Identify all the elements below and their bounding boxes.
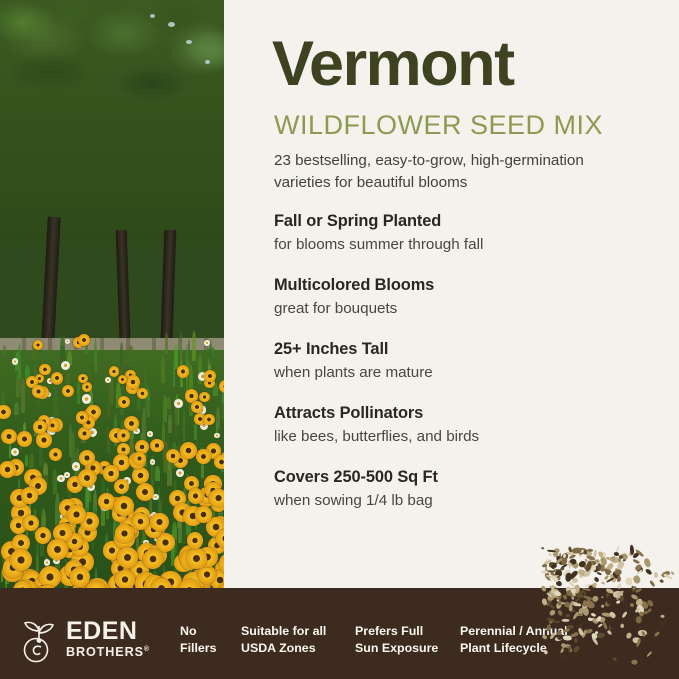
grass-blade [175,403,178,439]
feature-title: Covers 250-500 Sq Ft [274,467,644,488]
white-flower [176,469,183,476]
footer-content: EDEN BROTHERS® No Fillers Suitable for a… [0,600,679,679]
yellow-flower [187,532,204,549]
grass-blade [3,345,6,356]
white-flower [12,358,18,364]
yellow-flower [78,374,88,384]
white-flower [82,394,92,404]
white-flower [64,472,69,477]
yellow-flower [21,487,38,504]
grass-blade [166,397,171,409]
logo-brothers-text: BROTHERS® [66,645,150,659]
grass-blade [52,471,55,485]
badge-line-2: Sun Exposure [355,640,460,657]
white-flower [44,559,50,565]
grass-blade [106,390,109,409]
footer-bar: EDEN BROTHERS® No Fillers Suitable for a… [0,600,679,679]
yellow-flower [114,496,134,516]
grass-blade [161,355,165,383]
grass-blade [162,422,165,443]
grass-blade [168,414,172,434]
white-flower [65,339,70,344]
grass-blade [21,378,25,413]
logo-wordmark: EDEN BROTHERS® [66,620,150,659]
badge-no-fillers: No Fillers [180,623,241,656]
badge-line-2: USDA Zones [241,640,355,657]
product-info-card: /*blooms injected below*/ Vermont WILDFL… [0,0,679,679]
yellow-flower [114,479,129,494]
eden-brothers-logo[interactable]: EDEN BROTHERS® [18,617,151,663]
yellow-flower [78,427,91,440]
grass-blade [192,331,196,361]
yellow-flower [82,382,92,392]
white-flower [150,459,155,464]
yellow-flower [132,513,149,530]
feature-item: Attracts Pollinators like bees, butterfl… [274,403,644,447]
yellow-flower [33,420,47,434]
yellow-flower [1,429,16,444]
grass-blade [189,365,193,392]
badge-line-2: Plant Lifecycle [460,640,580,657]
yellow-flower [199,392,210,403]
grass-blade [107,426,110,453]
white-flower [174,399,183,408]
feature-subtitle: for blooms summer through fall [274,234,644,256]
feature-subtitle: when sowing 1/4 lb bag [274,490,644,512]
yellow-flower [39,364,50,375]
yellow-flower [209,489,224,508]
white-flower [72,462,81,471]
white-flower [57,475,64,482]
white-flower [61,361,70,370]
yellow-flower [98,493,115,510]
yellow-flower [186,548,207,569]
yellow-flower [109,366,120,377]
feature-list: Fall or Spring Planted for blooms summer… [274,211,644,531]
yellow-flower [203,414,215,426]
yellow-flower [195,506,212,523]
footer-badges: No Fillers Suitable for all USDA Zones P… [180,623,580,656]
wildflower-meadow-photo: /*blooms injected below*/ [0,0,224,604]
yellow-flower [143,549,163,569]
yellow-flower [214,455,224,469]
yellow-flower [32,385,45,398]
grass-blade [129,345,133,357]
badge-line-1: Suitable for all [241,623,355,640]
badge-usda-zones: Suitable for all USDA Zones [241,623,355,656]
yellow-flower [166,449,180,463]
yellow-flower [33,340,43,350]
grass-blade [77,380,80,404]
yellow-flower [126,375,140,389]
yellow-flower [204,370,216,382]
grass-blade [173,361,175,387]
badge-line-2: Fillers [180,640,241,657]
white-flower [147,431,153,437]
badge-line-1: Prefers Full [355,623,460,640]
feature-subtitle: great for bouquets [274,298,644,320]
yellow-flower [216,529,224,548]
yellow-flower [196,449,210,463]
yellow-flower [36,432,52,448]
yellow-flower [117,547,138,568]
feature-title: 25+ Inches Tall [274,339,644,360]
sprout-icon [18,617,60,663]
grass-blade [25,454,28,466]
feature-item: Multicolored Blooms great for bouquets [274,275,644,319]
yellow-flower [78,334,90,346]
product-content: Vermont WILDFLOWER SEED MIX 23 bestselli… [224,0,679,679]
yellow-flower [23,515,39,531]
grass-blade [101,362,104,375]
yellow-flower [67,505,86,524]
grass-blade [120,342,123,369]
logo-eden-text: EDEN [66,620,150,644]
sky-glint-icon [150,14,155,18]
grass-blade [43,463,48,475]
yellow-flower [76,411,88,423]
yellow-flower [47,539,67,559]
page-title: Vermont [272,33,514,96]
yellow-flower [17,431,33,447]
feature-title: Multicolored Blooms [274,275,644,296]
product-lead-text: 23 bestselling, easy-to-grow, high-germi… [274,150,639,195]
feature-item: Covers 250-500 Sq Ft when sowing 1/4 lb … [274,467,644,511]
grass-blade [71,431,75,466]
grass-blade [60,336,65,356]
feature-item: 25+ Inches Tall when plants are mature [274,339,644,383]
grass-blade [216,407,220,429]
grass-blade [180,332,182,363]
grass-blade [145,399,150,413]
feature-item: Fall or Spring Planted for blooms summer… [274,211,644,255]
yellow-flower [115,570,134,589]
yellow-flower [115,524,133,542]
yellow-flower [136,483,154,501]
yellow-flower [150,439,164,453]
grass-blade [14,402,19,414]
sky-glint-icon [205,60,210,64]
sky-glint-icon [186,40,192,44]
feature-title: Attracts Pollinators [274,403,644,424]
product-subtitle: WILDFLOWER SEED MIX [274,112,603,139]
white-flower [214,433,219,438]
badge-line-1: No [180,623,241,640]
badge-line-1: Perennial / Annual [460,623,580,640]
grass-blade [53,388,58,418]
feature-subtitle: when plants are mature [274,362,644,384]
sky-glint-icon [168,22,175,27]
trademark-symbol: ® [144,645,150,652]
badge-sun-exposure: Prefers Full Sun Exposure [355,623,460,656]
badge-plant-lifecycle: Perennial / Annual Plant Lifecycle [460,623,580,656]
yellow-flower [117,429,130,442]
feature-title: Fall or Spring Planted [274,211,644,232]
grass-blade [155,466,159,481]
grass-blade [163,395,167,422]
yellow-flower [180,442,197,459]
grass-blade [66,373,70,384]
yellow-flower [150,513,169,532]
grass-blade [29,453,34,468]
feature-subtitle: like bees, butterflies, and birds [274,426,644,448]
logo-brothers-label: BROTHERS [66,645,144,659]
